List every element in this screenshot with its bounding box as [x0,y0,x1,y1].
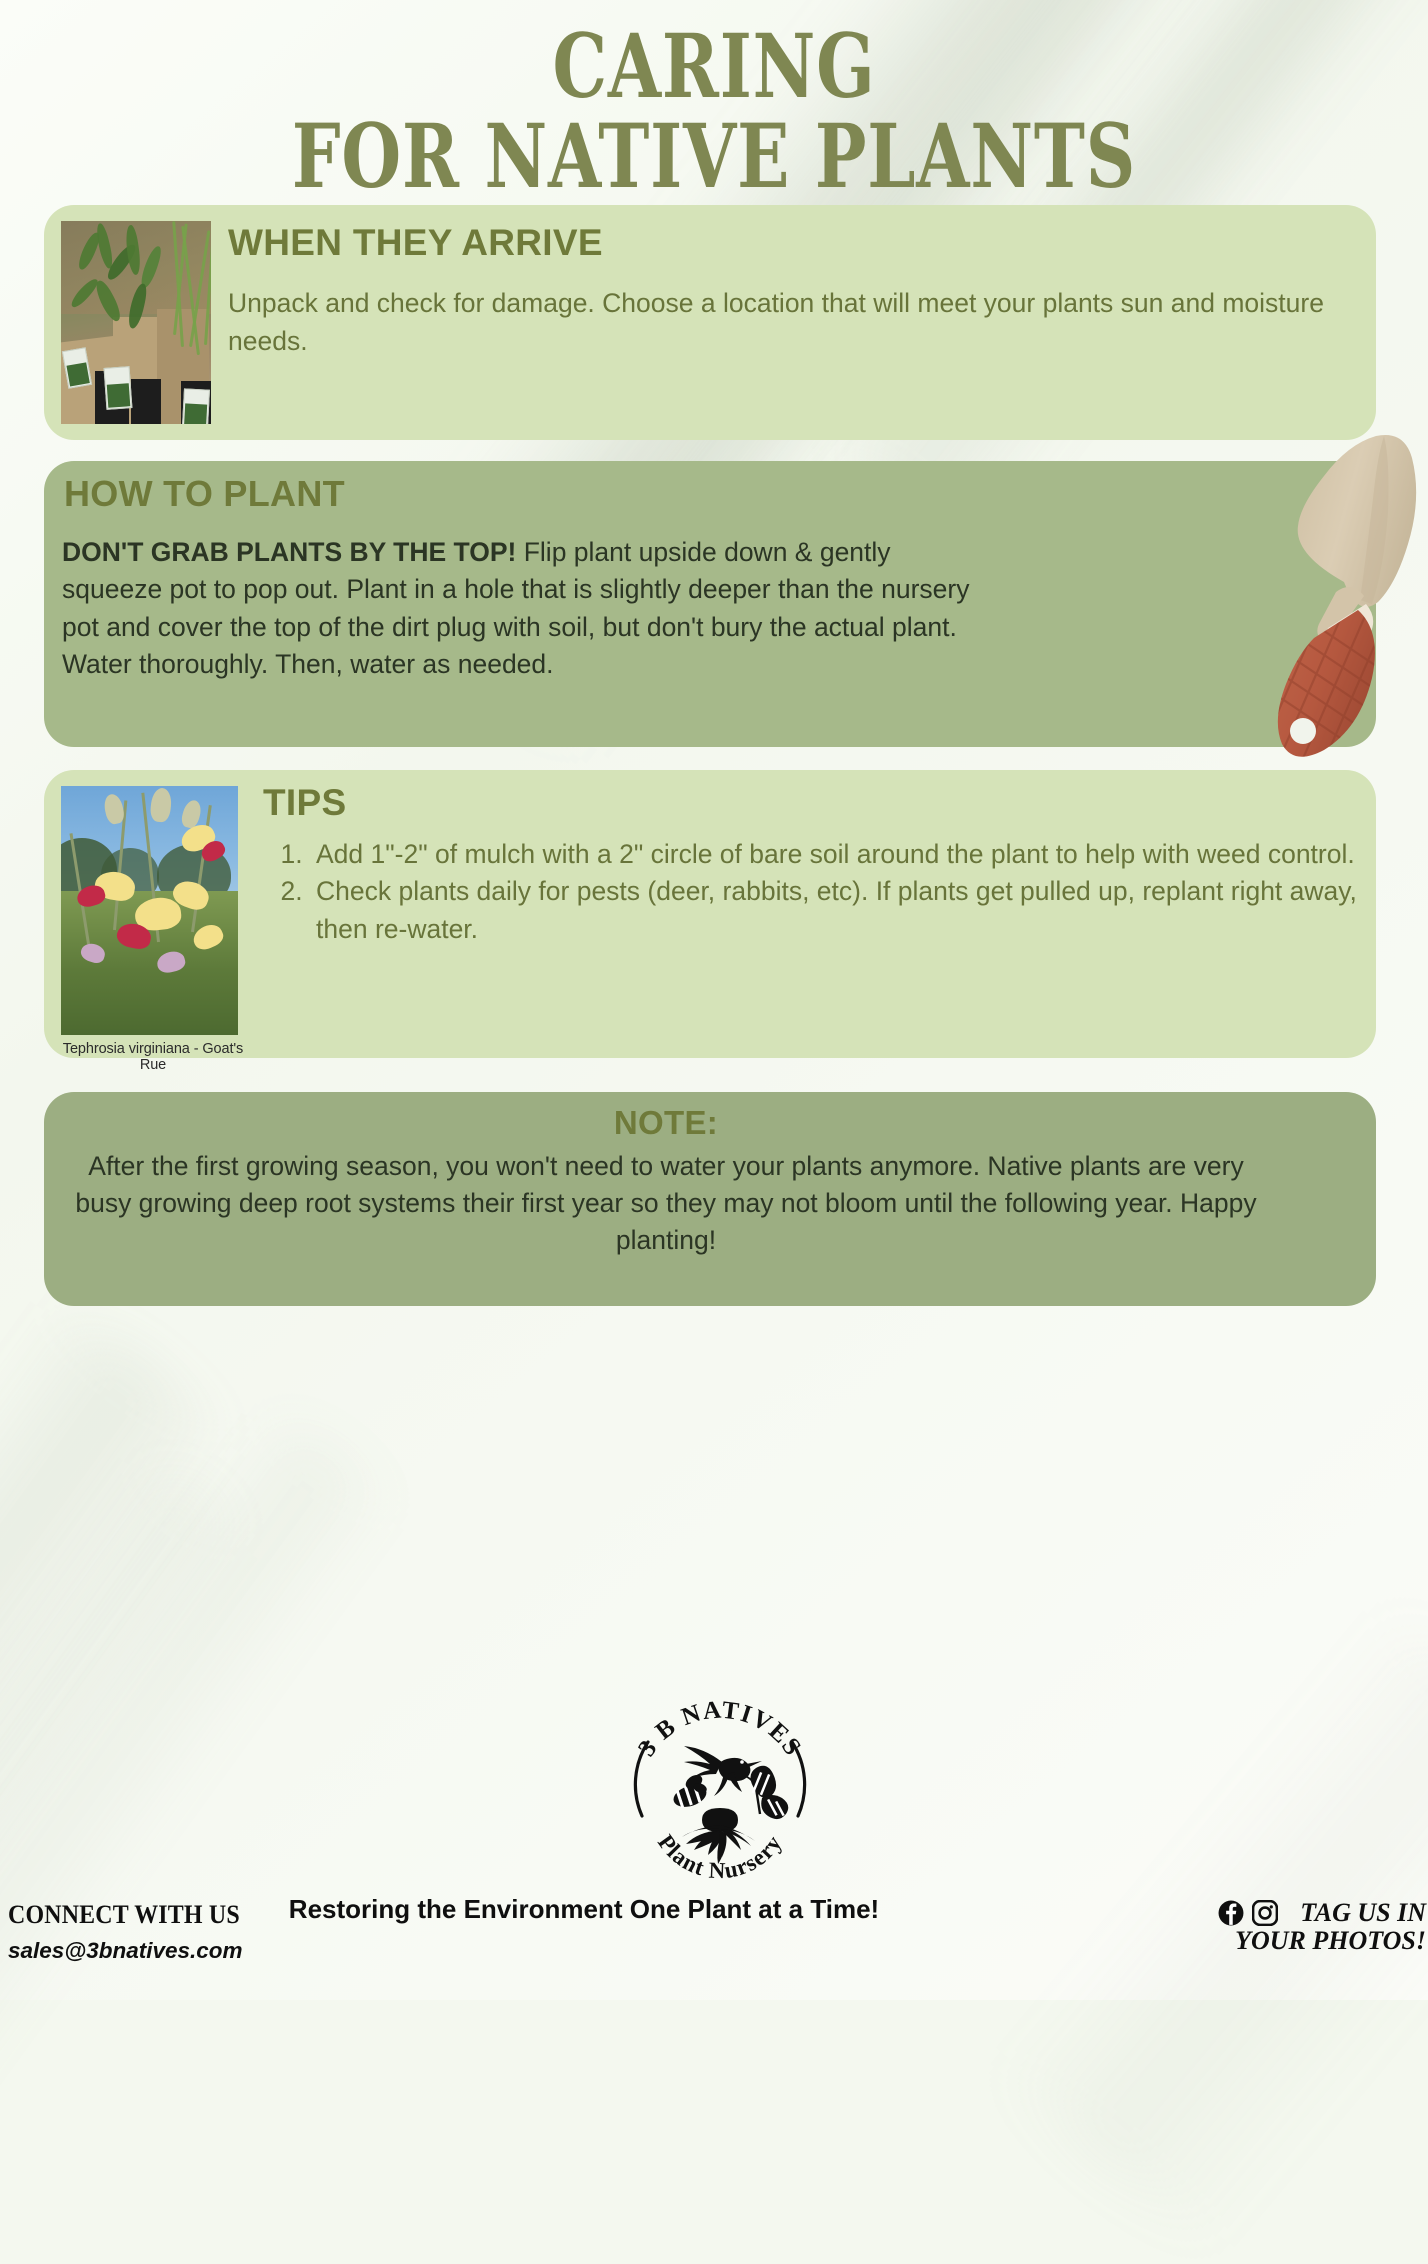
list-item: Check plants daily for pests (deer, rabb… [310,873,1400,948]
poster-content: CARING FOR NATIVE PLANTS WHEN THEY ARRIV… [0,0,1428,2000]
title-line-2: FOR NATIVE PLANTS [157,114,1271,198]
card-body-plant: DON'T GRAB PLANTS BY THE TOP! Flip plant… [62,534,992,683]
tag-us-line-2: YOUR PHOTOS! [1156,1926,1426,1956]
card-heading-tips: TIPS [263,782,346,824]
brand-tagline: Restoring the Environment One Plant at a… [284,1893,884,1926]
list-item: Add 1"-2" of mulch with a 2" circle of b… [310,836,1400,873]
connect-with-us-block: CONNECT WITH US sales@3bnatives.com [8,1900,288,1964]
instagram-icon[interactable] [1252,1900,1278,1926]
title-line-1: CARING [157,24,1271,108]
butterfly-icon [745,1766,788,1819]
tips-list: Add 1"-2" of mulch with a 2" circle of b… [258,836,1400,948]
contact-email[interactable]: sales@3bnatives.com [8,1938,288,1964]
facebook-icon[interactable] [1218,1900,1244,1926]
brand-logo: 3 B NATIVES Plant Nursery [612,1688,828,1888]
garden-trowel-icon [1232,432,1428,762]
card-body-arrive: Unpack and check for damage. Choose a lo… [228,285,1338,361]
svg-text:3 B NATIVES: 3 B NATIVES [633,1697,807,1762]
nursery-flat-photo [61,221,211,424]
page-title: CARING FOR NATIVE PLANTS [0,24,1428,199]
bee-icon [671,1772,710,1811]
goats-rue-flower-photo [61,786,238,1035]
card-heading-plant: HOW TO PLANT [64,473,345,515]
card-heading-note: NOTE: [0,1104,1332,1142]
body-emphasis: DON'T GRAB PLANTS BY THE TOP! [62,537,516,567]
card-heading-arrive: WHEN THEY ARRIVE [228,222,603,264]
photo-caption-goats-rue: Tephrosia virginiana - Goat's Rue [48,1041,258,1073]
tag-us-block: TAG US IN YOUR PHOTOS! [1156,1898,1426,1956]
logo-top-text: 3 B NATIVES [633,1697,807,1762]
connect-with-us-title: CONNECT WITH US [8,1900,266,1930]
tag-us-line-1: TAG US IN [1300,1898,1426,1928]
card-body-note: After the first growing season, you won'… [66,1148,1266,1259]
